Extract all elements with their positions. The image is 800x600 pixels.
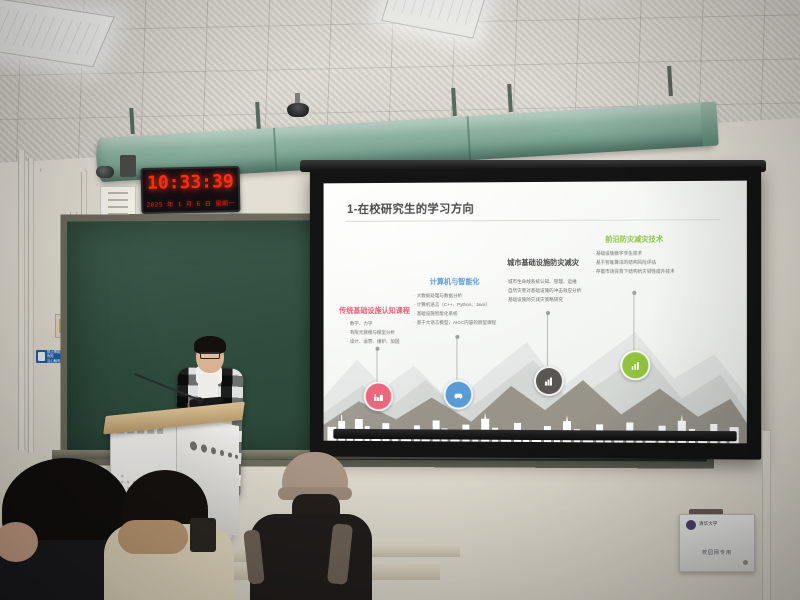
clock-time: 10:33:39	[143, 171, 238, 194]
cabinet-indicator	[743, 560, 748, 565]
column-3-heading: 城市基础设施防灾减灾	[507, 258, 579, 268]
column-2-heading: 计算机与智能化	[430, 277, 480, 287]
column-1-bullet-3: 设计、运营、维护、加固	[347, 338, 399, 347]
column-4-pin	[620, 350, 650, 380]
chart-buildings-icon	[629, 359, 641, 371]
column-2-bullet-4: 基于大语言模型、AIGC内容的新型课程	[414, 319, 496, 328]
clock-date-row: 2025 年 1 月 6 日 星期一	[143, 198, 238, 209]
cabinet-logo-text: 清华大学	[699, 521, 717, 527]
wall-speaker-box	[120, 155, 136, 177]
column-4-bullet-2: 基于智能算法的结构风险评估	[593, 259, 675, 268]
slide-title-rule	[345, 219, 720, 222]
presentation-slide: 1-在校研究生的学习方向 传统基础设施认知课程 数学、力学 有限元建模与模型分析…	[324, 181, 747, 444]
projection-screen-frame: 1-在校研究生的学习方向 传统基础设施认知课程 数学、力学 有限元建模与模型分析…	[310, 166, 761, 459]
column-4-heading: 前沿防灾减灾技术	[605, 234, 663, 244]
car-icon	[452, 389, 464, 401]
wall-conduit-1	[18, 150, 25, 450]
column-2-pin	[444, 380, 474, 410]
column-1-bullet-2: 有限元建模与模型分析	[347, 329, 399, 338]
factory-icon	[373, 390, 385, 402]
buildings-icon	[543, 375, 555, 387]
slide-title: 1-在校研究生的学习方向	[347, 200, 474, 217]
warning-sign-pictogram	[38, 352, 45, 361]
column-1-pin	[364, 381, 393, 411]
column-4-bullet-3: 存量市场背景下结构抗灾韧性提升技术	[593, 268, 675, 277]
column-1-bullets: 数学、力学 有限元建模与模型分析 设计、运营、维护、加固	[347, 320, 399, 347]
column-1-bullet-1: 数学、力学	[347, 320, 399, 329]
column-3-stem	[547, 314, 548, 372]
column-3-bullets: 城市生命线系统认知、管理、运维 自然灾害对基础设施的冲击效应分析 基础设施防灾减…	[505, 278, 581, 305]
right-wall-conduit	[762, 430, 771, 600]
column-3-bullet-2: 自然灾害对基础设施的冲击效应分析	[505, 287, 581, 296]
digital-led-clock: 10:33:39 2025 年 1 月 6 日 星期一	[141, 166, 241, 214]
column-1-heading: 传统基础设施认知课程	[339, 306, 410, 316]
wall-conduit-bend	[40, 168, 86, 172]
column-4-bullet-1: 基础设施数字孪生技术	[593, 250, 675, 259]
presenter-glasses	[200, 352, 220, 359]
column-3-bullet-1: 城市生命线系统认知、管理、运维	[505, 278, 581, 287]
column-3-pin	[534, 366, 564, 396]
wall-conduit-2	[28, 158, 34, 453]
projection-screen: 1-在校研究生的学习方向 传统基础设施认知课程 数学、力学 有限元建模与模型分析…	[324, 181, 747, 444]
classroom-photo-scene: 禁止攀爬高压危险 当心触电 10:33:39 2025 年 1 月 6 日 星期…	[0, 0, 800, 600]
column-4-bullets: 基础设施数字孪生技术 基于智能算法的结构风险评估 存量市场背景下结构抗灾韧性提升…	[593, 250, 675, 277]
column-4-stem	[633, 294, 634, 356]
column-2-bullet-2: 计算机语言（C++、Python、Java）	[414, 301, 496, 310]
network-cabinet: 清华大学 校园网专用	[679, 514, 755, 572]
wall-camera-icon	[96, 166, 114, 178]
column-2-bullet-1: 大数据处理与数据分析	[414, 292, 496, 301]
cabinet-label: 校园网专用	[680, 549, 754, 556]
column-2-bullets: 大数据处理与数据分析 计算机语言（C++、Python、Java） 基础设施智能…	[414, 292, 496, 328]
column-2-bullet-3: 基础设施智能化系统	[414, 310, 496, 319]
column-2-stem	[456, 338, 457, 386]
column-3-bullet-3: 基础设施防灾减灾策略研究	[505, 296, 581, 305]
dome-camera-icon	[287, 100, 309, 117]
university-logo-icon	[686, 520, 696, 530]
